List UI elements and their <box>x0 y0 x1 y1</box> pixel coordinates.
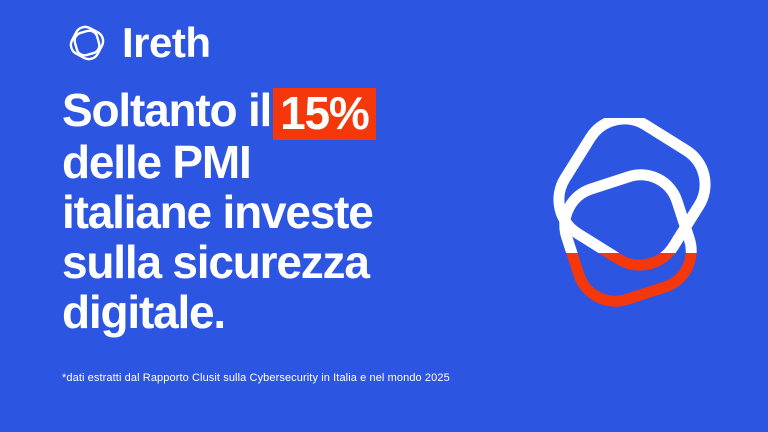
interlocking-rounded-squares-icon <box>62 18 112 68</box>
interlocking-rounded-squares-icon <box>512 118 752 330</box>
brand-wordmark: Ireth <box>122 22 211 64</box>
headline-line-2: delle PMI <box>62 137 492 187</box>
slide-canvas: Ireth Soltanto il15% delle PMI italiane … <box>0 0 768 432</box>
headline-line-5: digitale. <box>62 287 492 337</box>
headline-line-4: sulla sicurezza <box>62 237 492 287</box>
headline-line-3: italiane investe <box>62 187 492 237</box>
headline-block: Soltanto il15% delle PMI italiane invest… <box>62 85 492 337</box>
decorative-logo-graphic <box>512 118 752 330</box>
headline-line-1-prefix: Soltanto il <box>62 84 271 136</box>
brand-logo[interactable]: Ireth <box>62 16 211 70</box>
statistic-highlight-badge: 15% <box>273 88 375 140</box>
headline-line-1: Soltanto il15% <box>62 85 492 137</box>
source-footnote: *dati estratti dal Rapporto Clusit sulla… <box>62 372 450 384</box>
